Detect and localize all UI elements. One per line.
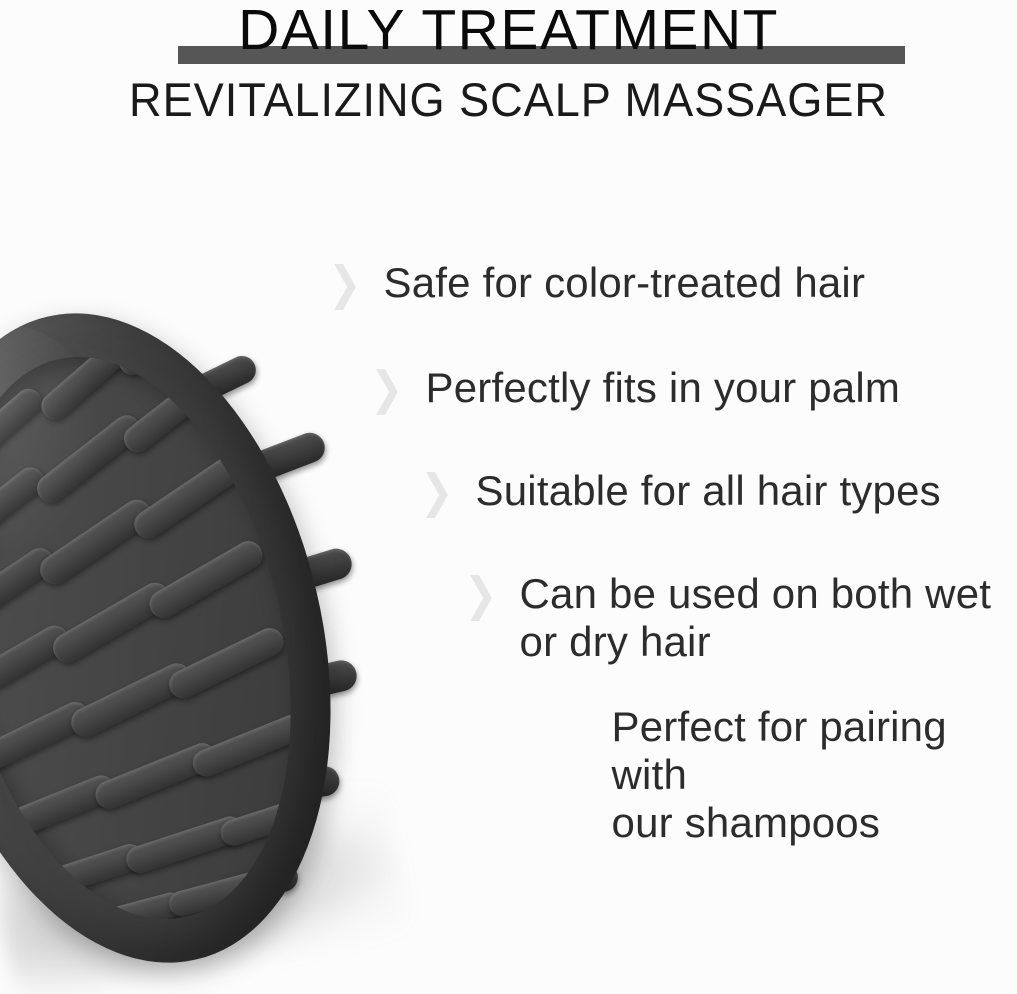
chevron-right-icon: ❯: [420, 463, 454, 521]
bristle: [164, 623, 288, 703]
bristle: [144, 536, 267, 623]
title-block: DAILY TREATMENT: [0, 0, 1017, 72]
chevron-right-icon: ❯: [464, 566, 498, 624]
feature-item: ❯ Safe for color-treated hair: [328, 259, 865, 309]
bristle: [129, 451, 247, 544]
bristle: [35, 494, 157, 590]
header: DAILY TREATMENT REVITALIZING SCALP MASSA…: [0, 0, 1017, 140]
feature-item: ❯ Suitable for all hair types: [420, 467, 941, 517]
bristle: [31, 410, 146, 508]
bristle: [0, 383, 47, 476]
page-title: DAILY TREATMENT: [0, 0, 1017, 62]
chevron-right-icon: ❯: [370, 360, 404, 418]
feature-label: Perfect for pairing with our shampoos: [612, 703, 1017, 847]
bristle: [118, 362, 229, 457]
chevron-right-icon: ❯: [328, 255, 362, 313]
feature-item: ❯ Perfect for pairing with our shampoos: [556, 703, 1017, 847]
feature-item: ❯ Can be used on both wet or dry hair: [464, 570, 991, 666]
feature-label: Can be used on both wet or dry hair: [520, 570, 992, 666]
feature-label: Perfectly fits in your palm: [426, 364, 901, 412]
page-subtitle: REVITALIZING SCALP MASSAGER: [20, 72, 996, 128]
feature-item: ❯ Perfectly fits in your palm: [370, 364, 900, 414]
product-feature-graphic: DAILY TREATMENT REVITALIZING SCALP MASSA…: [0, 0, 1017, 994]
feature-label: Suitable for all hair types: [476, 467, 941, 515]
bristle: [166, 866, 281, 919]
feature-label: Safe for color-treated hair: [384, 259, 866, 307]
bristle: [36, 327, 143, 425]
